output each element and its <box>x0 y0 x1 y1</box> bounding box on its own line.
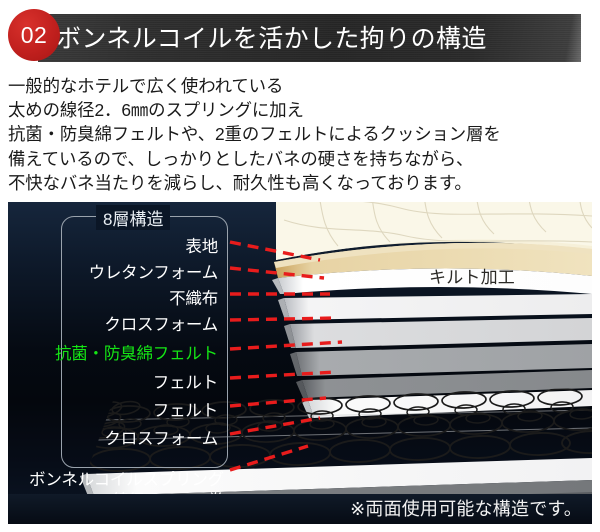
footnote-text: ※両面使用可能な構造です。 <box>350 495 582 521</box>
intro-line-4: 備えているので、しっかりとしたバネの硬さを持ちながら、 <box>8 147 592 171</box>
connector-line-4 <box>230 318 336 320</box>
connector-line-6 <box>230 372 336 378</box>
structure-diagram-panel: キルト加工 8層構造 表地 ウレタンフォーム 不織布 クロスフォーム 抗菌・防臭… <box>8 202 592 524</box>
intro-line-5: 不快なバネ当たりを減らし、耐久性も高くなっております。 <box>8 171 592 195</box>
connector-lines <box>8 202 592 524</box>
connector-line-9 <box>230 446 308 470</box>
connector-line-1 <box>230 242 320 260</box>
connector-line-8 <box>230 418 320 434</box>
page-title: ボンネルコイルを活かした拘りの構造 <box>56 19 487 55</box>
intro-line-3: 抗菌・防臭綿フェルトや、2重のフェルトによるクッション層を <box>8 122 592 146</box>
connector-line-7 <box>230 398 326 406</box>
section-header: 02 ボンネルコイルを活かした拘りの構造 <box>0 6 600 62</box>
step-number-badge: 02 <box>8 9 60 61</box>
intro-line-2: 太めの線径2．6㎜のスプリングに加え <box>8 98 592 122</box>
intro-paragraph: 一般的なホテルで広く使われている 太めの線径2．6㎜のスプリングに加え 抗菌・防… <box>8 74 592 195</box>
connector-line-2 <box>230 268 324 278</box>
intro-line-1: 一般的なホテルで広く使われている <box>8 74 592 98</box>
connector-line-5 <box>230 342 342 349</box>
